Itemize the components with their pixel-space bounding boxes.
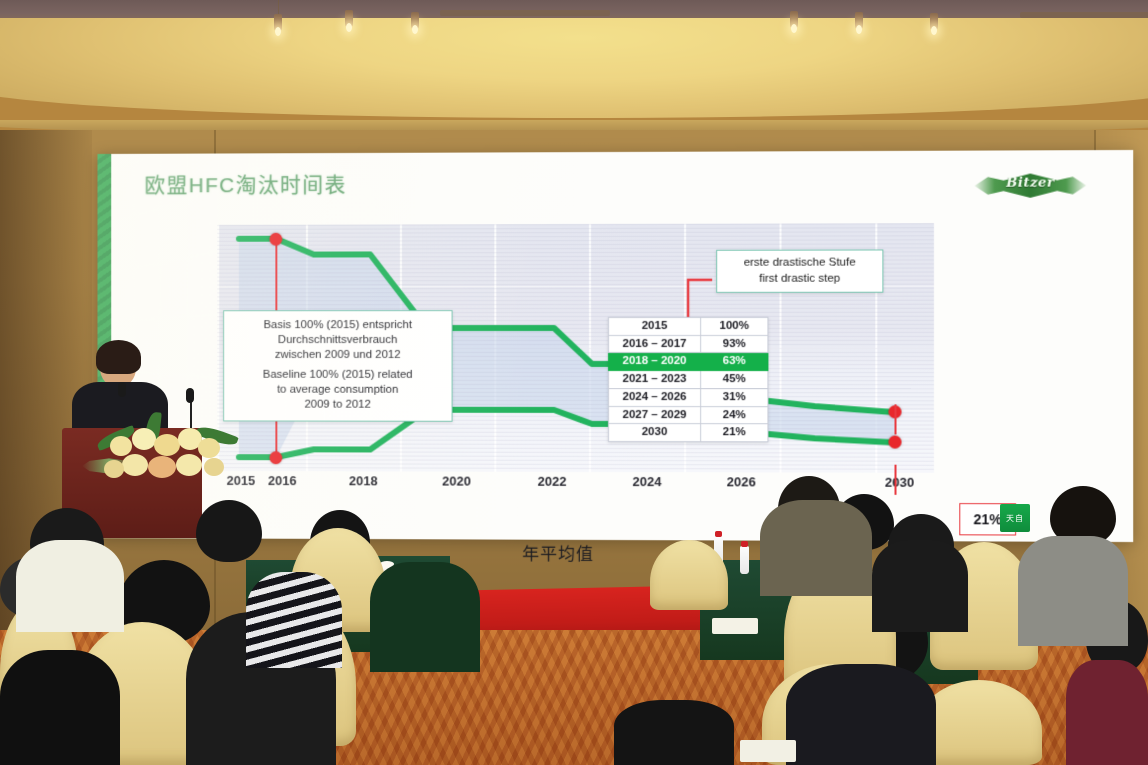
cell-period: 2021 – 2023 [609,371,701,389]
x-tick-label: 2022 [538,474,567,489]
data-point-2015-lower [269,451,282,464]
light-rail [1020,12,1148,18]
table-row: 2027 – 2029 24% [609,406,768,424]
light-rail [440,10,610,16]
green-placard: 天自 [1000,504,1030,532]
audience-member-red-top [1066,660,1148,765]
cell-value: 100% [701,317,768,335]
cell-value: 21% [701,424,768,442]
handheld-microphone [118,382,126,397]
x-tick-label: 2026 [727,474,756,489]
bitzer-logo: Bitzer [974,172,1086,199]
basis-en-line-1: Baseline 100% (2015) related [232,367,444,382]
cell-value: 24% [701,406,768,424]
first-drastic-step-box: erste drastische Stufe first drastic ste… [716,249,883,292]
basis-de-line-1: Basis 100% (2015) entspricht [232,318,444,333]
audience-member-light-shirt [16,540,124,632]
phase-down-schedule-table: 2015 100% 2016 – 2017 93% 2018 – 2020 63… [608,317,768,442]
cell-value: 45% [701,371,768,389]
audience-member-olive-jacket [760,500,872,596]
x-tick-label: 2030 [885,475,914,490]
basis-de-line-2: Durchschnittsverbrauch [232,333,444,348]
chart-footnote: 年平均值 [522,540,594,565]
basis-en-line-3: 2009 to 2012 [232,397,444,412]
x-tick-label: 2018 [349,473,378,488]
conference-room-photo: 欧盟HFC淘汰时间表 Bitzer [0,0,1148,765]
cell-period: 2018 – 2020 [609,353,701,371]
paper-document [740,740,796,762]
cell-value: 31% [701,388,768,406]
basis-en-line-2: to average consumption [232,382,444,397]
spotlight [930,13,938,31]
audience-member-head [196,500,262,562]
paper-document [712,618,758,634]
spotlight [345,10,353,28]
audience-member-torso [872,540,968,632]
cell-period: 2027 – 2029 [609,406,701,424]
audience-member-striped-shirt [246,572,342,668]
audience-member-torso [370,562,480,672]
data-point-2030-lower [888,435,901,448]
step-en-label: first drastic step [723,271,876,287]
projection-screen: 欧盟HFC淘汰时间表 Bitzer [97,150,1133,542]
podium-microphone [186,388,194,403]
cell-period: 2030 [609,424,701,442]
floral-arrangement [92,410,242,480]
data-point-2030-upper [888,405,901,418]
slide-title: 欧盟HFC淘汰时间表 [145,169,347,199]
water-bottle [740,546,749,574]
x-tick-label: 2020 [442,474,471,489]
spotlight [274,14,282,32]
table-row: 2015 100% [609,317,768,335]
logo-wordmark: Bitzer [974,175,1086,190]
table-body: 2015 100% 2016 – 2017 93% 2018 – 2020 63… [609,317,768,441]
baseline-info-box: Basis 100% (2015) entspricht Durchschnit… [223,310,452,422]
cell-period: 2015 [609,317,701,335]
basis-de-line-3: zwischen 2009 und 2012 [232,348,444,363]
lamp-wire [278,0,279,14]
table-row: 2021 – 2023 45% [609,371,768,389]
presenter-hair [96,340,141,374]
audience-member-torso [786,664,936,765]
audience-member-grey-top [1018,536,1128,646]
audience-member-torso [0,650,120,765]
x-tick-label: 2016 [268,473,297,488]
ceiling-soffit-light [0,18,1148,118]
table-row-highlighted: 2018 – 2020 63% [609,353,768,371]
cell-value: 93% [701,335,768,353]
step-de-label: erste drastische Stufe [723,256,876,272]
spotlight [411,12,419,30]
cell-value: 63% [701,353,768,371]
spotlight [855,12,863,30]
table-row: 2024 – 2026 31% [609,388,768,406]
audience-member-torso [614,700,734,765]
spotlight [790,11,798,29]
table-row: 2016 – 2017 93% [609,335,768,353]
table-row: 2030 21% [609,424,768,442]
cell-period: 2024 – 2026 [609,388,701,406]
cell-period: 2016 – 2017 [609,335,701,353]
x-tick-label: 2024 [633,474,662,489]
data-point-2015-upper [269,233,282,246]
